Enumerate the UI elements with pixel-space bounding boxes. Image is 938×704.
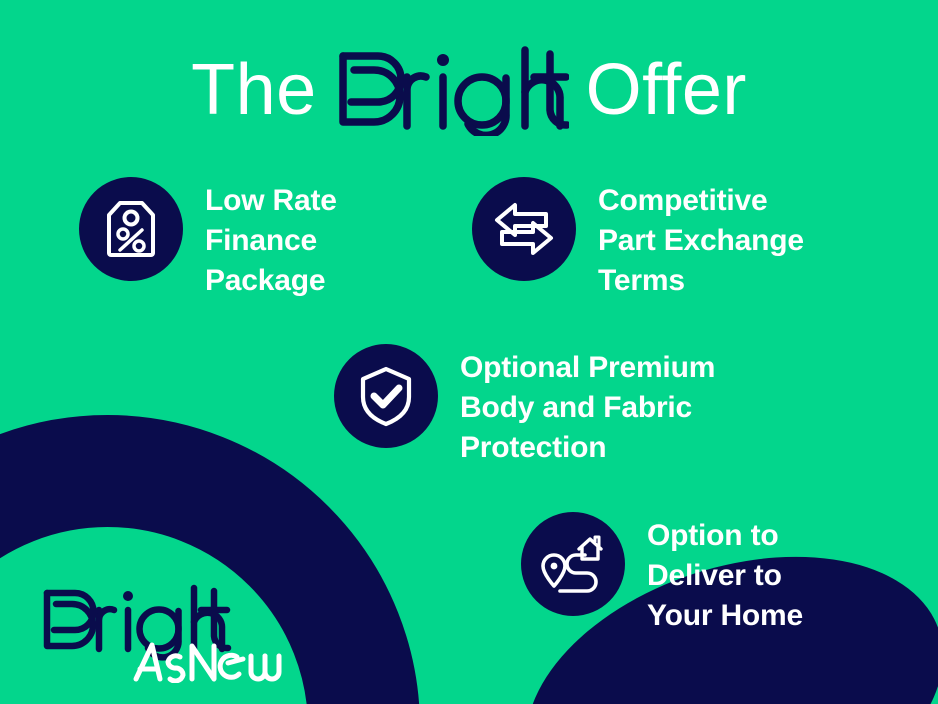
feature-label-protection: Optional Premium Body and Fabric Protect… [460,344,715,468]
feature-icon-badge [521,512,625,616]
exchange-arrows-icon [492,200,556,258]
bright-logotype-title [334,44,569,136]
feature-icon-badge [79,177,183,281]
page-title: The [0,44,938,136]
feature-item-protection: Optional Premium Body and Fabric Protect… [334,344,715,468]
map-pin-route-house-icon [540,534,606,594]
brightasnew-logo [40,583,290,683]
feature-item-finance: Low Rate Finance Package [79,177,337,301]
feature-icon-badge [334,344,438,448]
price-tag-percent-icon [103,199,159,259]
feature-icon-badge [472,177,576,281]
feature-label-finance: Low Rate Finance Package [205,177,337,301]
feature-label-delivery: Option to Deliver to Your Home [647,512,803,636]
offer-poster: The [0,0,938,704]
title-word-offer: Offer [586,54,747,126]
feature-label-exchange: Competitive Part Exchange Terms [598,177,804,301]
shield-check-icon [358,365,414,427]
title-word-the: The [191,54,317,126]
feature-item-delivery: Option to Deliver to Your Home [521,512,803,636]
feature-item-exchange: Competitive Part Exchange Terms [472,177,804,301]
